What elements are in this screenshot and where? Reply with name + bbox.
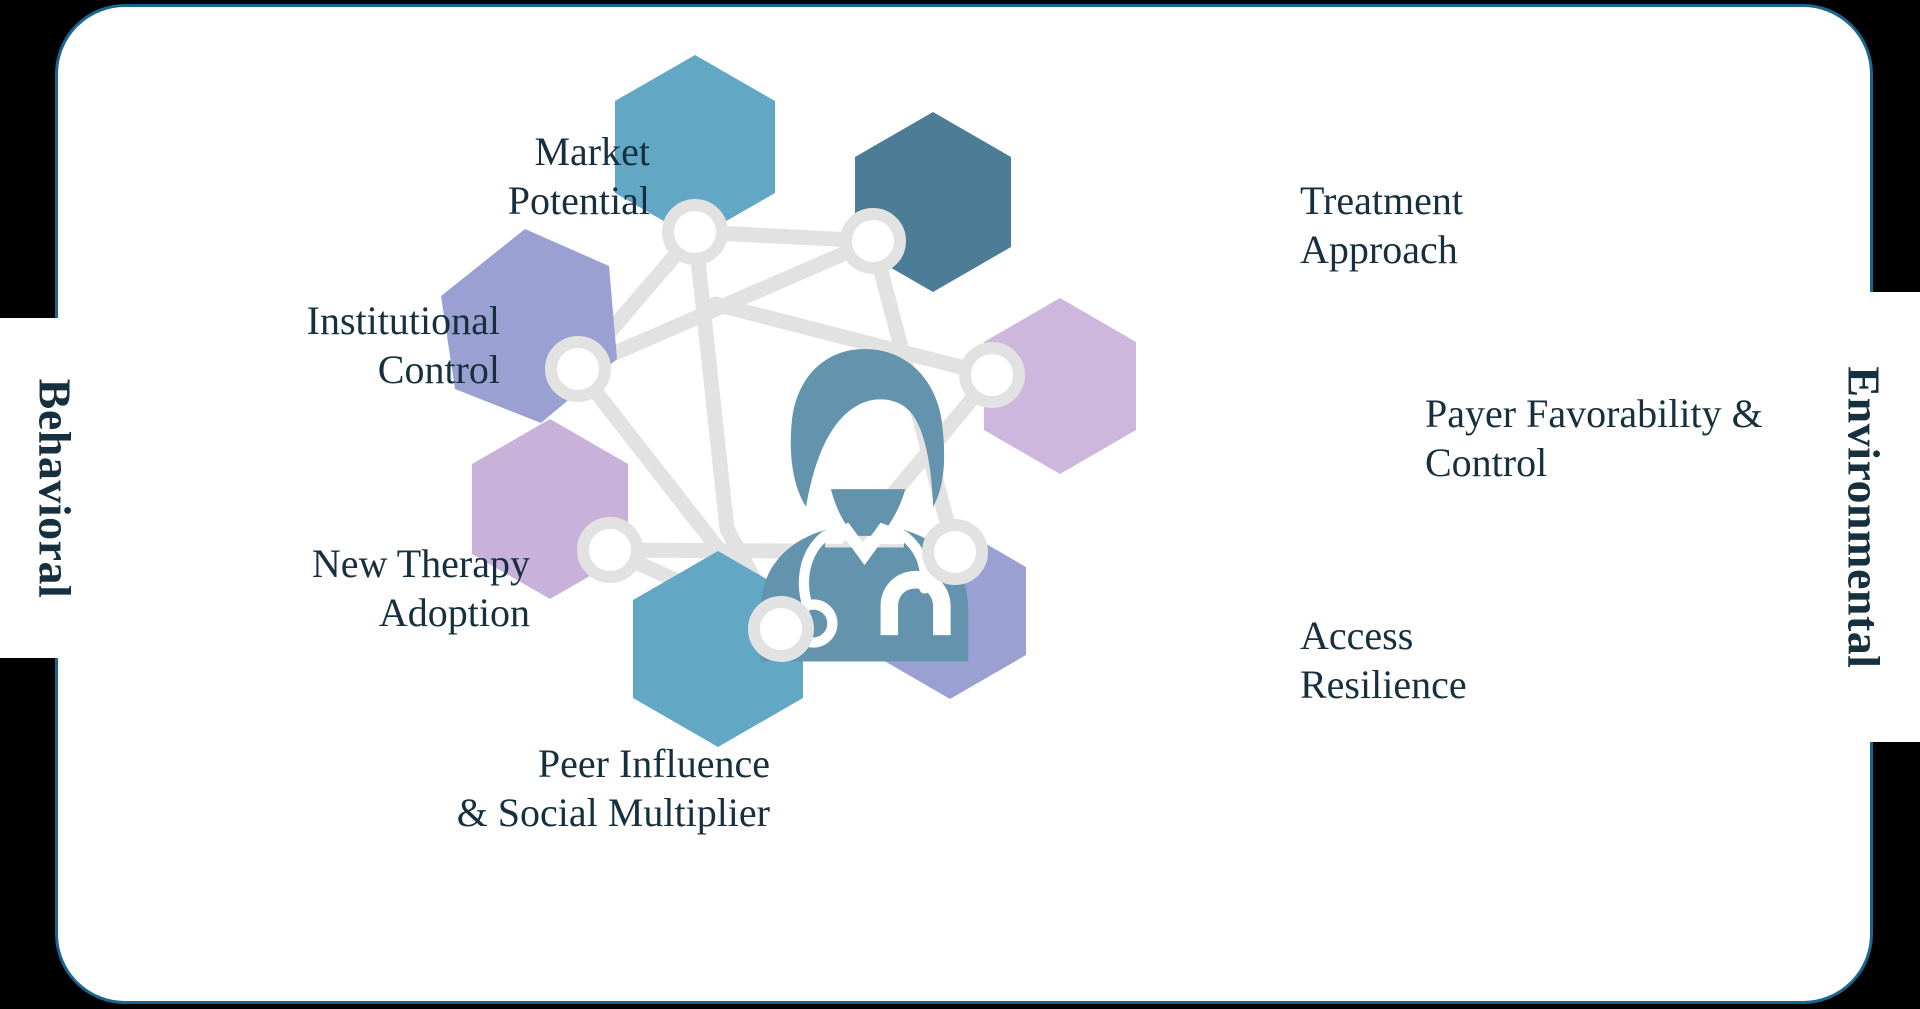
node-payer-favorability[interactable] — [965, 348, 1019, 402]
node-new-therapy-adoption[interactable] — [583, 523, 637, 577]
hex-network-diagram — [55, 4, 1873, 1004]
node-treatment-approach[interactable] — [846, 214, 900, 268]
edge-treatment-institutional — [578, 241, 873, 369]
side-tab-behavioral: Behavioral — [0, 318, 110, 658]
label-new-therapy-adoption: New Therapy Adoption — [110, 540, 530, 638]
node-institutional-control[interactable] — [551, 342, 605, 396]
side-tab-behavioral-label: Behavioral — [29, 378, 82, 598]
label-market-potential: Market Potential — [330, 128, 650, 226]
node-access-resilience[interactable] — [928, 525, 982, 579]
node-market-potential[interactable] — [668, 205, 722, 259]
side-tab-environmental: Environmental — [1808, 292, 1920, 742]
label-treatment-approach: Treatment Approach — [1300, 177, 1720, 275]
label-peer-influence: Peer Influence & Social Multiplier — [330, 740, 770, 838]
diagram-canvas: Market Potential Treatment Approach Inst… — [0, 0, 1920, 1009]
label-institutional-control: Institutional Control — [120, 297, 500, 395]
label-access-resilience: Access Resilience — [1300, 612, 1680, 710]
side-tab-environmental-label: Environmental — [1838, 366, 1891, 668]
node-peer-influence[interactable] — [754, 602, 808, 656]
